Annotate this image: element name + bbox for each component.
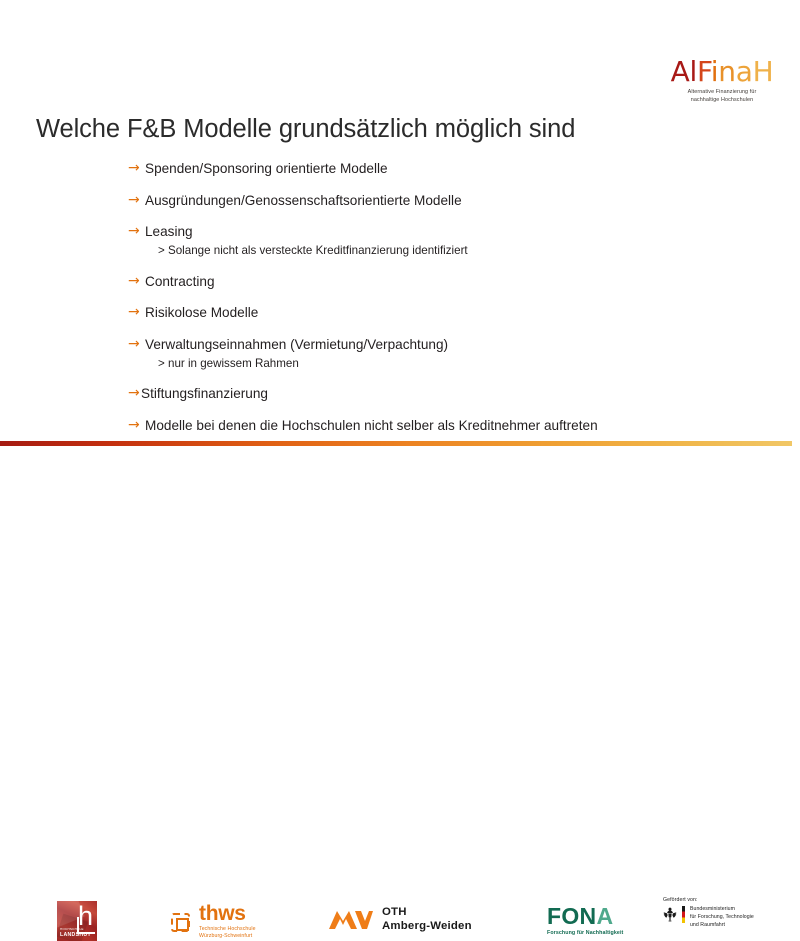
alfinah-logo: AlFinaH Alternative Finanzierung für nac… (652, 58, 792, 105)
logo-fona: FONA Forschung für Nachhaltigkeit (547, 905, 623, 936)
list-item-subnote: > nur in gewissem Rahmen (158, 356, 748, 371)
alfinah-tagline: Alternative Finanzierung für nachhaltige… (652, 89, 792, 105)
list-item: → Stiftungsfinanzierung (128, 385, 748, 402)
list-item-body: Ausgründungen/Genossenschaftsorientierte… (145, 192, 748, 209)
alfinah-wordmark: AlFinaH (652, 58, 792, 86)
bund-line-2: für Forschung, Technologie (690, 914, 754, 922)
landshut-mark-icon: h HOCHSCHULE LANDSHUT (57, 901, 97, 941)
list-item-label: Contracting (145, 273, 748, 290)
logo-hochschule-landshut: h HOCHSCHULE LANDSHUT (57, 901, 97, 941)
list-item: → Verwaltungseinnahmen (Vermietung/Verpa… (128, 336, 748, 371)
landshut-caption-line-2: LANDSHUT (60, 932, 91, 939)
list-item-body: Verwaltungseinnahmen (Vermietung/Verpach… (145, 336, 748, 371)
list-item-label: Risikolose Modelle (145, 304, 748, 321)
oth-line-1: OTH (382, 905, 472, 919)
list-item-label: Modelle bei denen die Hochschulen nicht … (145, 417, 748, 434)
fona-text-block: FONA Forschung für Nachhaltigkeit (547, 905, 623, 936)
list-item: → Spenden/Sponsoring orientierte Modelle (128, 160, 748, 177)
list-item-label: Ausgründungen/Genossenschaftsorientierte… (145, 192, 748, 209)
landshut-letter-h: h (78, 903, 93, 930)
bund-line-1: Bundesministerium (690, 906, 754, 914)
tagline-line-1: Alternative Finanzierung für (652, 89, 792, 97)
footer-logo-strip: h HOCHSCHULE LANDSHUT thws Technische Ho… (0, 448, 800, 508)
tagline-line-2: nachhaltige Hochschulen (652, 97, 792, 105)
page-title: Welche F&B Modelle grundsätzlich möglich… (36, 115, 575, 144)
fona-wordmark: FONA (547, 905, 623, 928)
arrow-right-icon: → (128, 192, 145, 209)
list-item-body: Spenden/Sponsoring orientierte Modelle (145, 160, 748, 177)
list-item-body: Modelle bei denen die Hochschulen nicht … (145, 417, 748, 434)
bullet-list: → Spenden/Sponsoring orientierte Modelle… (128, 160, 748, 448)
list-item: → Ausgründungen/Genossenschaftsorientier… (128, 192, 748, 209)
arrow-right-icon: → (128, 223, 145, 240)
list-item-label: Stiftungsfinanzierung (141, 385, 748, 402)
bund-text-block: Bundesministerium für Forschung, Technol… (690, 906, 754, 929)
fona-word-part-2: A (596, 903, 613, 929)
wordmark-seg-a: a (736, 55, 753, 88)
arrow-right-icon: → (128, 417, 145, 434)
list-item-body: Contracting (145, 273, 748, 290)
landshut-caption: HOCHSCHULE LANDSHUT (60, 928, 91, 938)
oth-aw-mark-icon (327, 907, 373, 931)
oth-text-block: OTH Amberg-Weiden (382, 905, 472, 934)
fona-subtitle: Forschung für Nachhaltigkeit (547, 930, 623, 936)
list-item-label: Verwaltungseinnahmen (Vermietung/Verpach… (145, 336, 748, 353)
bund-funded-by-label: Gefördert von: (663, 897, 754, 903)
thws-subtitle: Technische Hochschule Würzburg-Schweinfu… (199, 926, 256, 941)
wordmark-seg-h: H (753, 55, 774, 88)
list-item-body: Stiftungsfinanzierung (141, 385, 748, 402)
wordmark-seg-f: F (697, 55, 711, 88)
arrow-right-icon: → (128, 336, 145, 353)
list-item: → Leasing > Solange nicht als versteckte… (128, 223, 748, 258)
list-item-body: Leasing > Solange nicht als versteckte K… (145, 223, 748, 258)
list-item-label: Spenden/Sponsoring orientierte Modelle (145, 160, 748, 177)
german-flag-bar-icon (682, 906, 685, 923)
thws-wordmark: thws (199, 904, 256, 925)
list-item: → Risikolose Modelle (128, 304, 748, 321)
arrow-right-icon: → (128, 273, 145, 290)
slide-canvas: AlFinaH Alternative Finanzierung für nac… (0, 0, 800, 566)
wordmark-seg-al: Al (671, 55, 697, 88)
list-item: → Contracting (128, 273, 748, 290)
list-item: → Modelle bei denen die Hochschulen nich… (128, 417, 748, 434)
thws-subtitle-line-1: Technische Hochschule (199, 926, 256, 934)
arrow-right-icon: → (128, 160, 145, 177)
arrow-right-icon: → (128, 304, 145, 321)
thws-inner-shape (176, 918, 189, 931)
bund-row: Bundesministerium für Forschung, Technol… (663, 906, 754, 929)
thws-subtitle-line-2: Würzburg-Schweinfurt (199, 933, 256, 941)
list-item-body: Risikolose Modelle (145, 304, 748, 321)
fona-word-part-1: FON (547, 903, 596, 929)
thws-text-block: thws Technische Hochschule Würzburg-Schw… (199, 904, 256, 941)
logo-bundesministerium: Gefördert von: Bund (663, 897, 754, 929)
wordmark-seg-n: n (718, 55, 735, 88)
gradient-divider (0, 441, 792, 446)
federal-eagle-icon (663, 906, 677, 922)
arrow-right-icon: → (128, 385, 141, 402)
logo-thws: thws Technische Hochschule Würzburg-Schw… (168, 904, 256, 941)
oth-line-2: Amberg-Weiden (382, 919, 472, 933)
bund-line-3: und Raumfahrt (690, 922, 754, 930)
logo-oth-amberg-weiden: OTH Amberg-Weiden (327, 905, 472, 934)
bund-block: Gefördert von: Bund (663, 897, 754, 929)
list-item-subnote: > Solange nicht als versteckte Kreditfin… (158, 243, 748, 258)
list-item-label: Leasing (145, 223, 748, 240)
thws-mark-icon (168, 910, 193, 935)
